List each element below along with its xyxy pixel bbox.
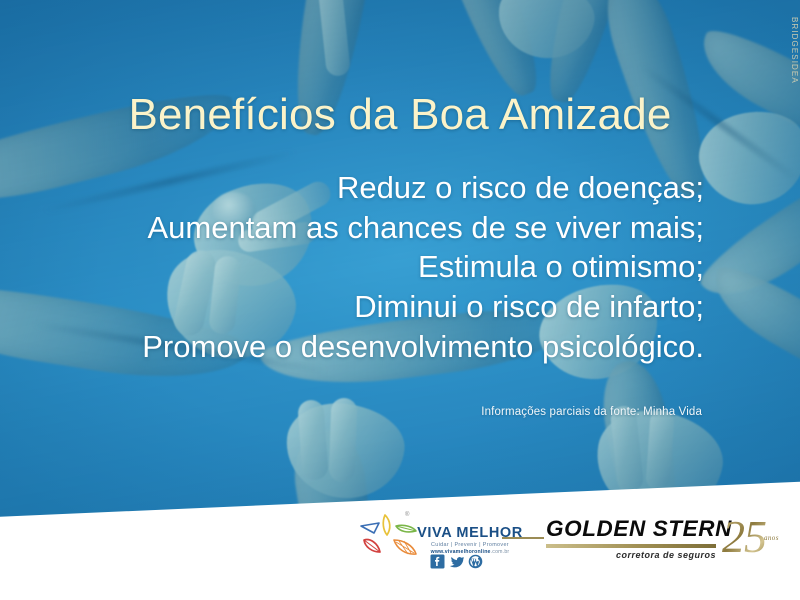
golden-stern-subtitle: corretora de seguros xyxy=(546,550,716,560)
anniversary-badge: 25 anos xyxy=(722,514,788,574)
anniversary-word: anos xyxy=(764,534,779,542)
watermark-bridgesidea: BRIDGESIDEA xyxy=(785,6,799,84)
viva-melhor-tagline: Cuidar | Prevenir | Promover xyxy=(414,543,526,548)
golden-stern-bar xyxy=(546,544,716,548)
benefits-list: Reduz o risco de doenças; Aumentam as ch… xyxy=(142,168,704,366)
golden-stern-name: GOLDEN STERN xyxy=(546,518,716,541)
anniversary-number: 25 xyxy=(722,514,766,560)
benefit-line-5: Promove o desenvolvimento psicológico. xyxy=(142,327,704,367)
benefit-line-2: Aumentam as chances de se viver mais; xyxy=(142,208,704,248)
wordpress-icon[interactable] xyxy=(468,554,483,569)
viva-melhor-text-block: VIVA MELHOR Cuidar | Prevenir | Promover… xyxy=(414,526,526,555)
poster-image: BRIDGESIDEA Benefícios da Boa Amizade Re… xyxy=(0,0,800,600)
viva-melhor-mark-icon: ® xyxy=(358,512,420,562)
facebook-icon[interactable] xyxy=(430,554,445,569)
logo-golden-stern[interactable]: GOLDEN STERN corretora de seguros xyxy=(546,518,716,560)
twitter-icon[interactable] xyxy=(449,554,464,569)
benefit-line-4: Diminui o risco de infarto; xyxy=(142,287,704,327)
footer-divider xyxy=(502,537,544,539)
viva-melhor-url-tld: .com.br xyxy=(491,549,510,555)
registered-mark: ® xyxy=(405,512,409,518)
page-title: Benefícios da Boa Amizade xyxy=(0,92,800,138)
social-links xyxy=(430,554,483,569)
benefit-line-3: Estimula o otimismo; xyxy=(142,247,704,287)
logo-viva-melhor[interactable]: ® VIVA MELHOR Cuidar | Prevenir | Promov… xyxy=(358,512,528,580)
source-attribution: Informações parciais da fonte: Minha Vid… xyxy=(481,406,702,418)
benefit-line-1: Reduz o risco de doenças; xyxy=(142,168,704,208)
